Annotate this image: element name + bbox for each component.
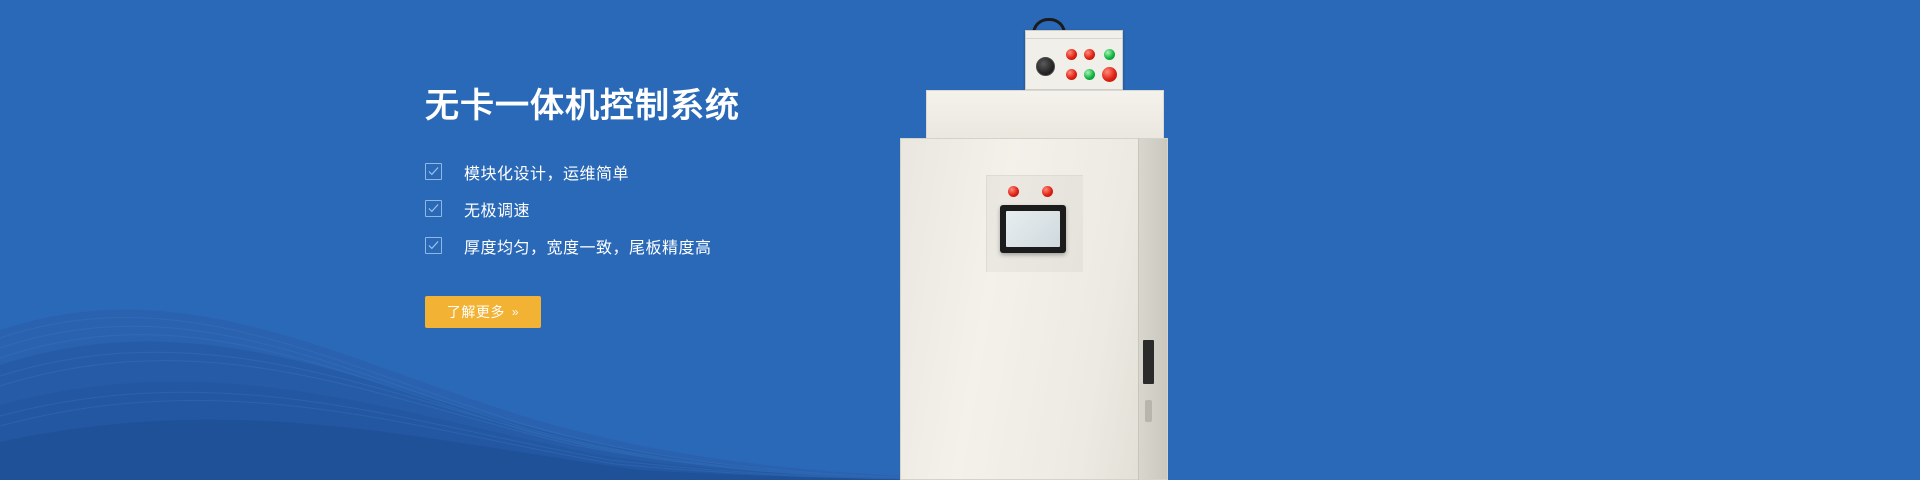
hero-content: 无卡一体机控制系统 模块化设计，运维简单 无极调速 [425,86,945,328]
checkbox-checked-icon [425,163,442,180]
selector-knob-icon [1036,57,1055,76]
cabinet-seam [1138,138,1139,480]
list-item: 模块化设计，运维简单 [425,161,945,183]
hmi-screen-surface [1006,211,1060,247]
learn-more-button[interactable]: 了解更多 » [425,296,541,328]
feature-list: 模块化设计，运维简单 无极调速 厚度均匀，宽度一致，尾板精度高 [425,161,945,257]
panel-lamp-row [1008,186,1062,198]
cabinet-vent [1143,340,1154,384]
product-image [900,0,1200,480]
indicator-lamp-red [1066,69,1077,80]
indicator-lamp-red [1084,49,1095,60]
chevron-right-icon: » [512,305,519,319]
indicator-lamp-red [1066,49,1077,60]
feature-text: 无极调速 [464,197,530,221]
checkbox-checked-icon [425,200,442,217]
hero-banner: 无卡一体机控制系统 模块化设计，运维简单 无极调速 [0,0,1920,480]
feature-text: 模块化设计，运维简单 [464,160,629,184]
control-head-unit [1025,30,1123,90]
hmi-touchscreen [1000,205,1066,253]
cabinet-top-block [926,90,1164,140]
learn-more-label: 了解更多 [447,302,505,322]
indicator-lamp-red [1008,186,1019,197]
list-item: 厚度均匀，宽度一致，尾板精度高 [425,235,945,257]
emergency-lamp-red [1102,67,1117,82]
indicator-lamp-green [1084,69,1095,80]
indicator-lamp-green [1104,49,1115,60]
list-item: 无极调速 [425,198,945,220]
page-title: 无卡一体机控制系统 [425,86,945,127]
checkbox-checked-icon [425,237,442,254]
cabinet-handle [1145,400,1152,422]
indicator-lamp-red [1042,186,1053,197]
feature-text: 厚度均匀，宽度一致，尾板精度高 [464,234,712,258]
